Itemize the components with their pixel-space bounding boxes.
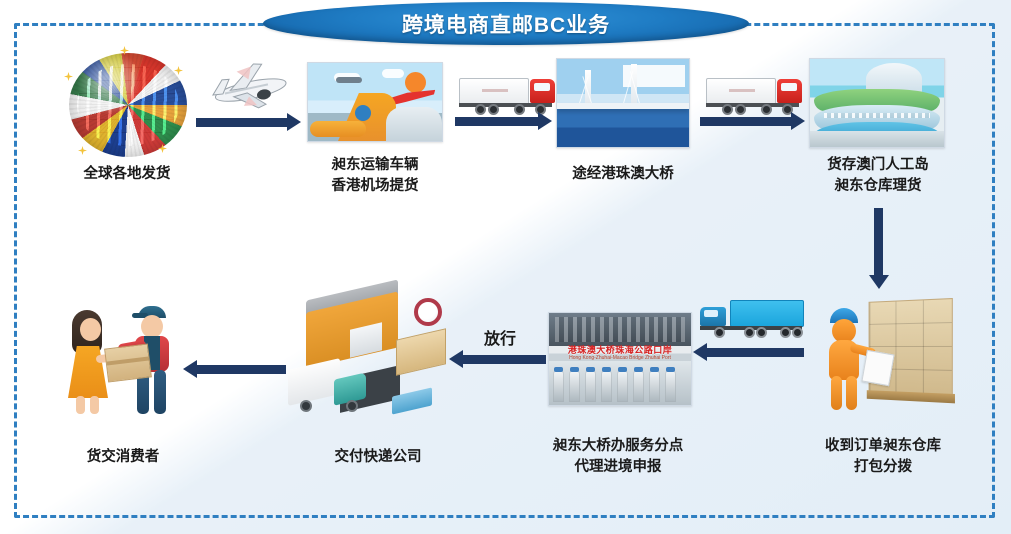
- diagram-canvas: 跨境电商直邮BC业务 全球各地发货: [0, 0, 1011, 534]
- step-7-caption: 交付快递公司: [300, 447, 456, 468]
- airplane-icon: [200, 58, 292, 116]
- step-3-caption: 途经港珠澳大桥: [548, 164, 698, 185]
- connector-3-4-arrow: [700, 117, 792, 126]
- step-1-node[interactable]: [62, 48, 192, 160]
- truck-icon-1: [459, 76, 555, 116]
- connector-4-5-arrow: [874, 208, 883, 276]
- step-6-caption: 昶东大桥办服务分点 代理进境申报: [518, 436, 718, 477]
- package-handoff-consumer-icon: [62, 302, 182, 414]
- cable-stayed-bridge-icon: [556, 58, 690, 148]
- title-banner: 跨境电商直邮BC业务: [263, 2, 749, 45]
- step-8-caption: 货交消费者: [48, 447, 198, 468]
- step-2-caption: 昶东运输车辆 香港机场提货: [292, 155, 458, 196]
- airport-planes-icon: [307, 62, 443, 142]
- step-6-node[interactable]: 港珠澳大桥珠海公路口岸 Hong Kong-Zhuhai-Macao Bridg…: [548, 312, 692, 406]
- parcel-icon: [104, 343, 152, 382]
- page-title: 跨境电商直邮BC业务: [402, 9, 610, 39]
- step-7-node[interactable]: [288, 296, 448, 416]
- container-truck-icon: [700, 300, 804, 342]
- step-4-node[interactable]: [809, 58, 945, 148]
- connector-5-6-arrow: [706, 348, 804, 357]
- courier-depot-icon: [288, 296, 448, 416]
- world-flags-globe-icon: [62, 48, 192, 160]
- connector-1-2-arrow: [196, 118, 288, 127]
- connector-6-7-arrow: [462, 355, 546, 364]
- step-1-caption: 全球各地发货: [42, 164, 212, 185]
- connector-7-8-arrow: [196, 365, 286, 374]
- step-3-node[interactable]: [556, 58, 690, 148]
- connector-6-7-label: 放行: [484, 325, 516, 349]
- connector-2-3-arrow: [455, 117, 539, 126]
- warehouse-worker-boxes-icon: [812, 294, 952, 414]
- step-4-caption: 货存澳门人工岛 昶东仓库理货: [800, 155, 956, 196]
- step-5-node[interactable]: [812, 294, 952, 414]
- step-8-node[interactable]: [62, 302, 182, 414]
- macau-artificial-island-terminal-icon: [809, 58, 945, 148]
- truck-icon-2: [706, 76, 802, 116]
- step-5-caption: 收到订单昶东仓库 打包分拨: [798, 436, 968, 477]
- step-2-node[interactable]: [307, 62, 443, 142]
- border-checkpoint-icon: 港珠澳大桥珠海公路口岸 Hong Kong-Zhuhai-Macao Bridg…: [548, 312, 692, 406]
